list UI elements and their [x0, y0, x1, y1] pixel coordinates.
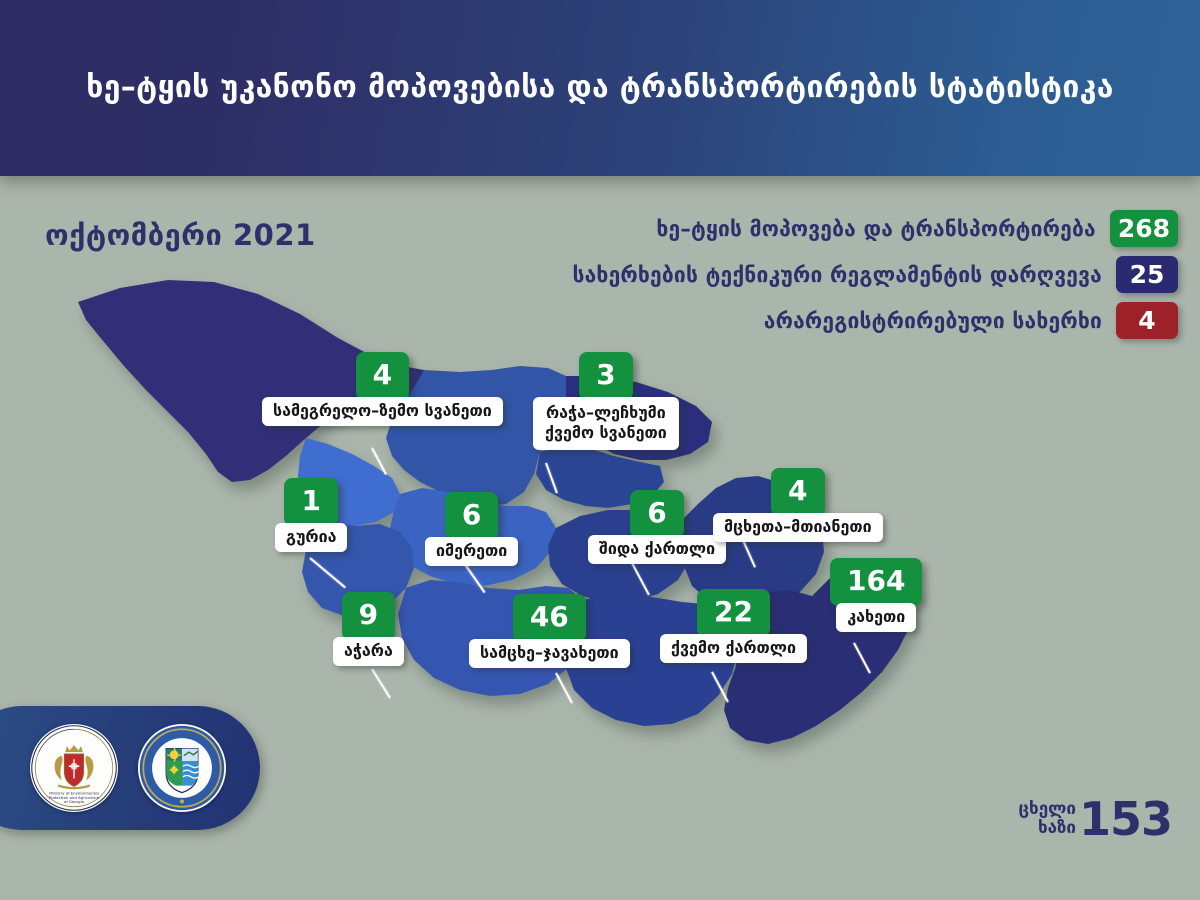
infographic-root: ხე–ტყის უკანონო მოპოვებისა და ტრანსპორტი… — [0, 0, 1200, 900]
marker-region-name: ქვემო ქართლი — [660, 634, 807, 663]
marker-count: 164 — [830, 558, 922, 606]
marker-count: 6 — [630, 490, 683, 538]
hotline-label-line2: ხაზი — [1018, 819, 1076, 837]
legend-item-sawmill-violation: სახერხების ტექნიკური რეგლამენტის დარღვევ… — [572, 256, 1178, 293]
map-marker-samegrelo[interactable]: 4 სამეგრელო–ზემო სვანეთი — [262, 352, 503, 426]
legend-value-badge: 25 — [1116, 256, 1178, 293]
ministry-emblem-icon: Ministry of Environmental Protection and… — [30, 724, 118, 812]
map-marker-shida[interactable]: 6 შიდა ქართლი — [588, 490, 726, 564]
marker-region-name: სამეგრელო–ზემო სვანეთი — [262, 397, 503, 426]
map-marker-imereti[interactable]: 6 იმერეთი — [425, 492, 518, 566]
map-marker-racha[interactable]: 3 რაჭა–ლეჩხუმი ქვემო სვანეთი — [533, 352, 679, 450]
page-title: ხე–ტყის უკანონო მოპოვებისა და ტრანსპორტი… — [0, 70, 1200, 105]
legend-label: არარეგისტრირებული სახერხი — [764, 309, 1102, 333]
map-marker-adjara[interactable]: 9 აჭარა — [333, 592, 404, 666]
marker-count: 9 — [342, 592, 395, 640]
supervision-department-emblem-icon — [138, 724, 226, 812]
marker-count: 46 — [513, 594, 586, 642]
hotline-label-line1: ცხელი — [1018, 800, 1076, 818]
legend-item-harvest-transport: ხე–ტყის მოპოვება და ტრანსპორტირება 268 — [656, 210, 1178, 247]
marker-region-name: სამცხე–ჯავახეთი — [469, 639, 630, 668]
legend-label: ხე–ტყის მოპოვება და ტრანსპორტირება — [656, 217, 1095, 241]
marker-count: 4 — [356, 352, 409, 400]
svg-text:of Georgia: of Georgia — [64, 799, 85, 804]
header-banner: ხე–ტყის უკანონო მოპოვებისა და ტრანსპორტი… — [0, 0, 1200, 176]
marker-region-name: რაჭა–ლეჩხუმი ქვემო სვანეთი — [533, 397, 679, 450]
logo-panel: Ministry of Environmental Protection and… — [0, 706, 260, 830]
marker-region-name: აჭარა — [333, 637, 404, 666]
hotline: ცხელი ხაზი 153 — [1018, 798, 1172, 840]
marker-count: 6 — [445, 492, 498, 540]
marker-region-name: შიდა ქართლი — [588, 535, 726, 564]
hotline-label: ცხელი ხაზი — [1018, 800, 1076, 837]
legend: ხე–ტყის მოპოვება და ტრანსპორტირება 268 ს… — [572, 210, 1178, 339]
marker-count: 22 — [697, 589, 770, 637]
marker-count: 1 — [284, 478, 337, 526]
date-label: ოქტომბერი 2021 — [45, 218, 316, 252]
map-marker-mtskheta[interactable]: 4 მცხეთა–მთიანეთი — [713, 468, 883, 542]
map-marker-kakheti[interactable]: 164 კახეთი — [830, 558, 922, 632]
marker-count: 4 — [771, 468, 824, 516]
legend-item-unregistered-sawmill: არარეგისტრირებული სახერხი 4 — [764, 302, 1178, 339]
legend-value-badge: 268 — [1110, 210, 1178, 247]
legend-value-badge: 4 — [1116, 302, 1178, 339]
map-marker-guria[interactable]: 1 გურია — [275, 478, 347, 552]
marker-count: 3 — [579, 352, 632, 400]
marker-region-name: კახეთი — [836, 603, 916, 632]
map-marker-kvemo[interactable]: 22 ქვემო ქართლი — [660, 589, 807, 663]
hotline-number: 153 — [1079, 798, 1172, 840]
marker-region-name: იმერეთი — [425, 537, 518, 566]
map-marker-samtskhe[interactable]: 46 სამცხე–ჯავახეთი — [469, 594, 630, 668]
marker-region-name: გურია — [275, 523, 347, 552]
marker-region-name: მცხეთა–მთიანეთი — [713, 513, 883, 542]
legend-label: სახერხების ტექნიკური რეგლამენტის დარღვევ… — [572, 263, 1102, 287]
